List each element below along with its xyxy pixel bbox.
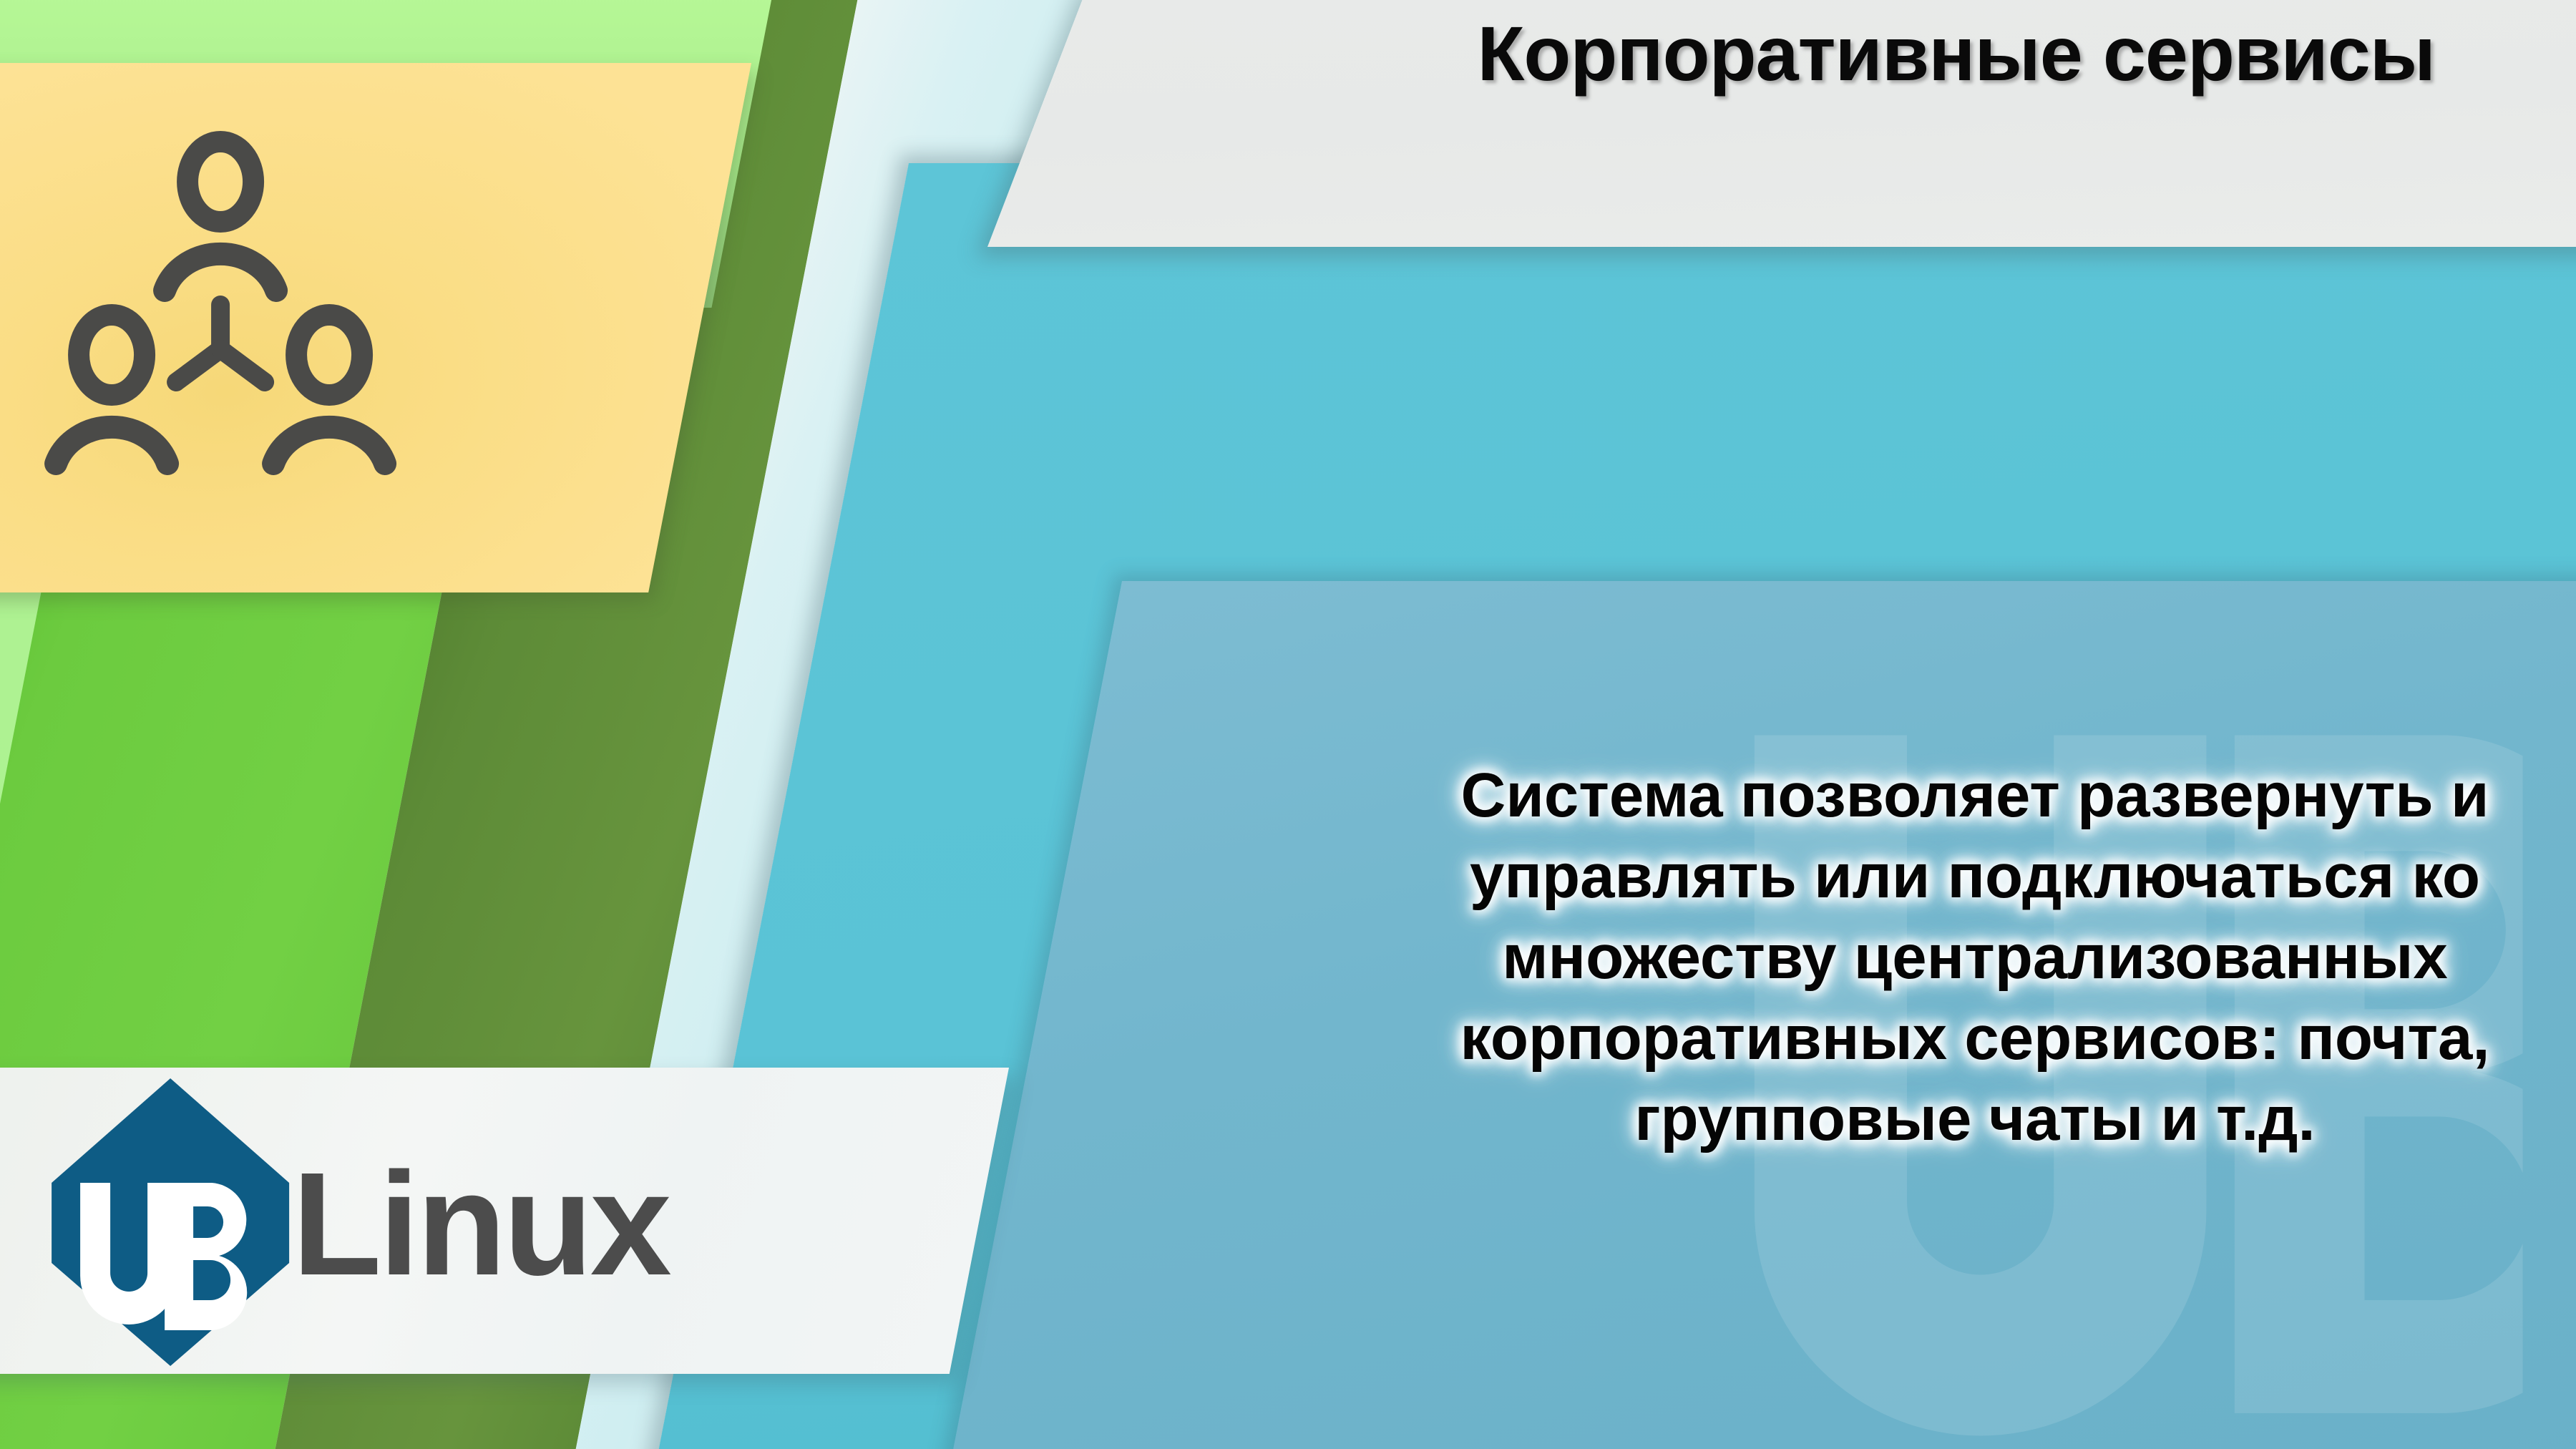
brand-logo: Linux (49, 1073, 850, 1370)
title-band: Корпоративные сервисы (987, 0, 2576, 247)
page-title: Корпоративные сервисы (1277, 13, 2576, 94)
logo-wordmark: Linux (292, 1151, 669, 1297)
slide-canvas: Корпоративные сервисы Система позволяет … (0, 0, 2576, 1449)
body-paragraph: Система позволяет развернуть и управлять… (1417, 755, 2533, 1159)
feature-card-yellow (0, 63, 751, 592)
logo-band: Linux (0, 1068, 1009, 1374)
ub-hexagon-logo-icon (49, 1075, 292, 1369)
people-network-icon (0, 113, 449, 542)
